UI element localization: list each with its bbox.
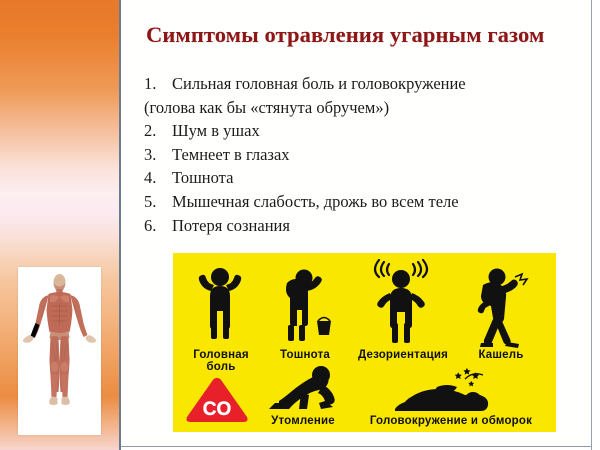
infographic-label: Утомление xyxy=(255,415,351,427)
infographic-label: Головокружение и обморок xyxy=(351,415,551,427)
person-crawling-fatigue-icon xyxy=(261,363,347,419)
list-item: 4. Тошнота xyxy=(144,166,584,190)
page-title: Симптомы отравления угарным газом xyxy=(146,21,576,49)
infographic-label: Дезориентация xyxy=(353,349,453,361)
list-item-number: 6. xyxy=(144,214,172,238)
co-warning-label: CO xyxy=(203,399,232,420)
symptoms-list: 1. Сильная головная боль и головокружени… xyxy=(144,72,584,237)
infographic-label: Головная боль xyxy=(175,349,267,373)
person-vomiting-bucket-icon xyxy=(273,263,337,349)
list-item: 6. Потеря сознания xyxy=(144,214,584,238)
infographic-label-line1: Головная xyxy=(193,349,249,361)
list-item: 3. Темнеет в глазах xyxy=(144,143,584,167)
list-item-number: 3. xyxy=(144,143,172,167)
infographic-label: Кашель xyxy=(461,349,541,361)
list-item-subline: (голова как бы «стянута обручем») xyxy=(144,96,584,120)
list-item-number: 5. xyxy=(144,190,172,214)
list-item-label: Шум в ушах xyxy=(172,119,584,143)
person-coughing-icon xyxy=(461,261,531,351)
infographic-label: Тошнота xyxy=(265,349,345,361)
list-item-label: Темнеет в глазах xyxy=(172,143,584,167)
person-lying-fainted-icon xyxy=(369,365,501,419)
anatomy-image-card xyxy=(18,267,101,435)
infographic-label-line2: боль xyxy=(206,361,235,373)
list-item-number: 2. xyxy=(144,119,172,143)
co-warning-triangle-icon: CO xyxy=(183,375,251,425)
infographic-panel: Головная боль Тошнота xyxy=(173,253,556,432)
list-item: 2. Шум в ушах xyxy=(144,119,584,143)
list-item: 5. Мышечная слабость, дрожь во всем теле xyxy=(144,190,584,214)
slide: Симптомы отравления угарным газом 1. Сил… xyxy=(0,0,600,450)
list-item-label: Сильная головная боль и головокружение xyxy=(172,72,584,96)
list-item: 1. Сильная головная боль и головокружени… xyxy=(144,72,584,96)
list-item-number: 1. xyxy=(144,72,172,96)
panel-right-border xyxy=(591,0,592,450)
list-item-label: Потеря сознания xyxy=(172,214,584,238)
person-holding-head-icon xyxy=(187,261,253,349)
human-muscular-system-figure xyxy=(18,267,101,435)
person-disoriented-soundwaves-icon xyxy=(358,255,444,349)
list-item-number: 4. xyxy=(144,166,172,190)
list-item-label: Тошнота xyxy=(172,166,584,190)
list-item-label: Мышечная слабость, дрожь во всем теле xyxy=(172,190,584,214)
